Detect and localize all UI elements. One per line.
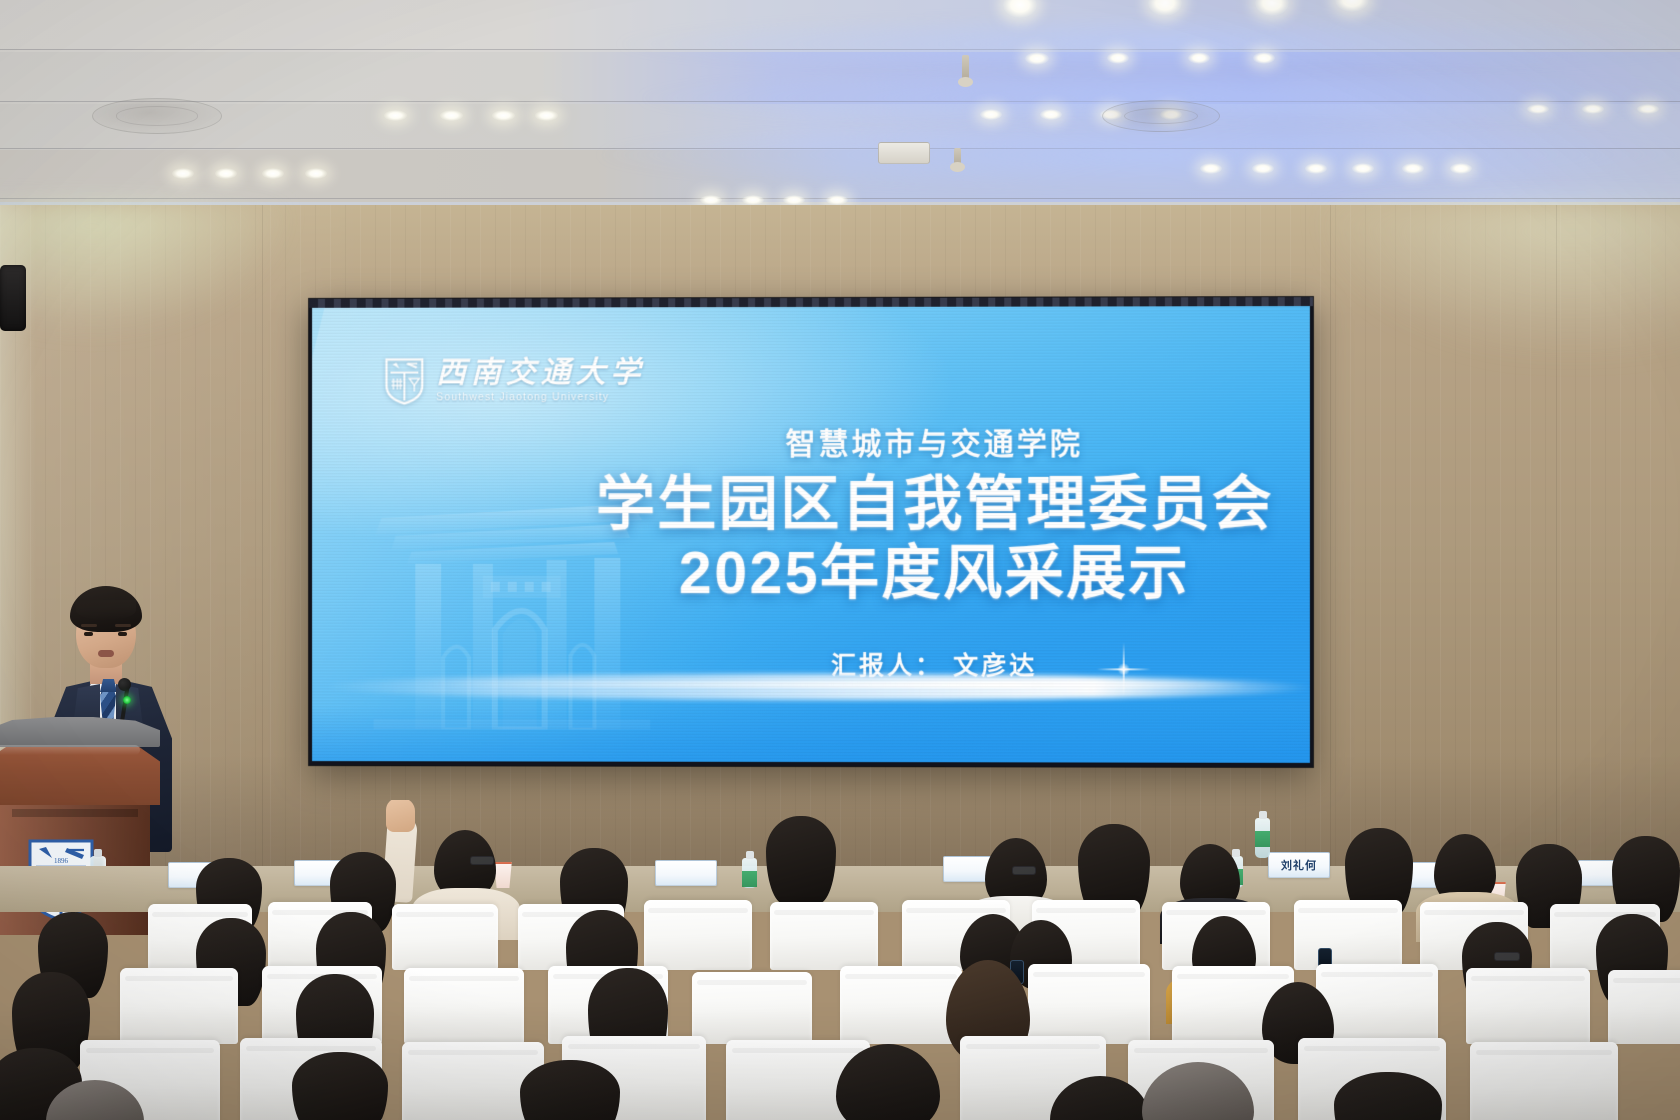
recessed-downlight-icon bbox=[700, 195, 722, 205]
university-logo-lockup: 西南交通大学 Southwest Jiaotong University bbox=[384, 355, 646, 405]
slide-subtitle: 智慧城市与交通学院 bbox=[584, 419, 1285, 464]
cove-light-glow bbox=[620, 14, 1680, 74]
presenter-eye bbox=[118, 632, 127, 636]
audience-chair bbox=[392, 904, 498, 970]
eyeglasses-icon bbox=[1494, 952, 1520, 961]
microphone-status-light bbox=[123, 696, 131, 704]
water-bottle-icon bbox=[1255, 818, 1270, 858]
recessed-downlight-icon bbox=[384, 110, 407, 121]
recessed-downlight-icon bbox=[1107, 52, 1129, 64]
auditorium-scene: 西南交通大学 Southwest Jiaotong University 智慧城… bbox=[0, 0, 1680, 1120]
raised-hand-icon bbox=[386, 800, 415, 832]
recessed-downlight-icon bbox=[1252, 163, 1274, 174]
presenter-eye bbox=[84, 632, 93, 636]
recessed-downlight-icon bbox=[1305, 163, 1327, 174]
audience-chair bbox=[1466, 968, 1590, 1044]
led-video-wall[interactable]: 西南交通大学 Southwest Jiaotong University 智慧城… bbox=[309, 297, 1313, 767]
slide-title-line2: 2025年度风采展示 bbox=[584, 540, 1285, 607]
fire-sprinkler-icon bbox=[962, 55, 969, 81]
recessed-downlight-icon bbox=[215, 168, 237, 179]
circular-air-diffuser-icon bbox=[92, 98, 222, 134]
university-shield-crest-icon bbox=[384, 356, 426, 406]
eyeglasses-icon bbox=[1012, 866, 1036, 875]
audience-chair bbox=[644, 900, 752, 970]
wall-mounted-speaker-icon bbox=[0, 265, 26, 331]
audience-head bbox=[766, 816, 836, 904]
wall-light-glow bbox=[1320, 205, 1680, 355]
audience-chair bbox=[1028, 964, 1150, 1044]
audience-chair bbox=[1316, 964, 1438, 1044]
recessed-downlight-icon bbox=[262, 168, 284, 179]
circular-air-diffuser-icon bbox=[1102, 100, 1220, 132]
recessed-downlight-icon bbox=[535, 110, 558, 121]
presenter-eyebrow bbox=[81, 624, 97, 627]
recessed-downlight-icon bbox=[305, 168, 327, 179]
recessed-downlight-icon bbox=[1200, 163, 1222, 174]
bottle-label bbox=[742, 871, 757, 887]
audience-chair bbox=[120, 968, 238, 1044]
audience-head bbox=[520, 1060, 620, 1120]
audience-chair bbox=[692, 972, 812, 1044]
university-name-en: Southwest Jiaotong University bbox=[436, 392, 645, 403]
slide-title-block: 智慧城市与交通学院 学生园区自我管理委员会 2025年度风采展示 汇报人： 文彦… bbox=[584, 419, 1285, 683]
recessed-downlight-icon bbox=[826, 195, 848, 205]
audience-chair bbox=[770, 902, 878, 970]
wall-light-glow bbox=[0, 205, 290, 335]
audience-chair bbox=[840, 966, 962, 1044]
microphone-capsule-icon bbox=[118, 678, 131, 691]
recessed-downlight-icon bbox=[1352, 163, 1374, 174]
recessed-downlight-icon bbox=[172, 168, 194, 179]
recessed-downlight-icon bbox=[1040, 109, 1062, 120]
university-name-cn: 西南交通大学 bbox=[436, 358, 645, 388]
table-name-card-text: 刘礼何 bbox=[1281, 857, 1317, 873]
slide-sparkle-icon bbox=[1097, 642, 1151, 696]
presenter-mouth bbox=[98, 650, 114, 657]
audience-head bbox=[292, 1052, 388, 1120]
recessed-downlight-icon bbox=[1402, 163, 1424, 174]
audience-area: 刘礼何 bbox=[0, 800, 1680, 1120]
slide-title-line1: 学生园区自我管理委员会 bbox=[584, 471, 1285, 538]
slide-bottom-gradient bbox=[312, 705, 1310, 763]
audience-chair bbox=[1608, 970, 1680, 1044]
recessed-downlight-icon bbox=[1637, 104, 1659, 114]
audience-chair bbox=[404, 968, 524, 1044]
recessed-downlight-icon bbox=[492, 110, 515, 121]
lectern-edge-highlight bbox=[0, 745, 140, 755]
ceiling bbox=[0, 0, 1680, 212]
recessed-downlight-icon bbox=[1025, 52, 1049, 65]
recessed-downlight-icon bbox=[1450, 163, 1472, 174]
ceiling-speaker-icon bbox=[878, 142, 930, 164]
recessed-downlight-icon bbox=[440, 110, 463, 121]
recessed-downlight-icon bbox=[980, 109, 1002, 120]
bottle-label bbox=[1255, 831, 1270, 847]
table-name-card: 刘礼何 bbox=[1268, 852, 1330, 878]
eyeglasses-icon bbox=[470, 856, 494, 865]
audience-chair bbox=[1294, 900, 1402, 970]
recessed-downlight-icon bbox=[1527, 104, 1549, 114]
water-bottle-icon bbox=[742, 858, 757, 888]
fire-sprinkler-icon bbox=[954, 148, 961, 166]
recessed-downlight-icon bbox=[1582, 104, 1604, 114]
lectern-desktop bbox=[0, 717, 160, 747]
recessed-downlight-icon bbox=[783, 195, 805, 205]
table-name-card bbox=[655, 860, 717, 886]
recessed-downlight-icon bbox=[1253, 52, 1275, 64]
recessed-downlight-icon bbox=[742, 195, 764, 205]
presenter-eyebrow bbox=[115, 624, 131, 627]
recessed-downlight-icon bbox=[1188, 52, 1210, 64]
presentation-slide[interactable]: 西南交通大学 Southwest Jiaotong University 智慧城… bbox=[312, 306, 1310, 763]
audience-chair bbox=[1470, 1042, 1618, 1120]
